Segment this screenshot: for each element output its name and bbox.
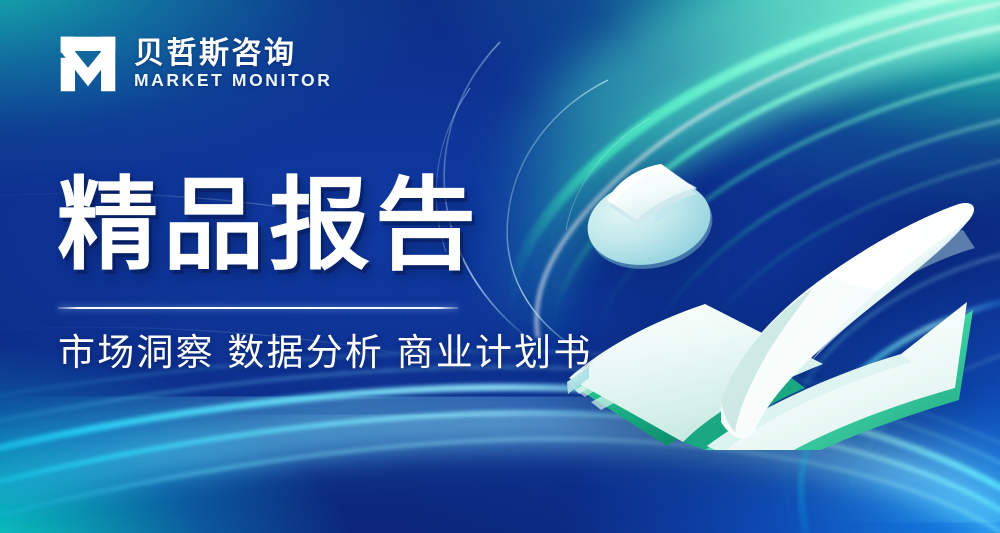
page-title: 精品报告 [57,175,593,278]
headline-block: 精品报告 市场洞察 数据分析 商业计划书 [57,175,593,371]
page-subtitle: 市场洞察 数据分析 商业计划书 [58,334,593,371]
pie-chart-disc-icon [580,164,720,279]
brand-logo-text: 贝哲斯咨询 MARKET MONITOR [134,39,332,90]
brand-name-en: MARKET MONITOR [134,72,332,90]
report-cover-banner: 贝哲斯咨询 MARKET MONITOR 精品报告 市场洞察 数据分析 商业计划… [0,0,1000,533]
brand-name-cn: 贝哲斯咨询 [134,39,332,69]
open-book-with-pie-chart-illustration [555,150,975,450]
m-monogram-logo-icon [57,33,119,95]
title-divider [58,307,458,309]
brand-logo[interactable]: 贝哲斯咨询 MARKET MONITOR [57,33,332,95]
